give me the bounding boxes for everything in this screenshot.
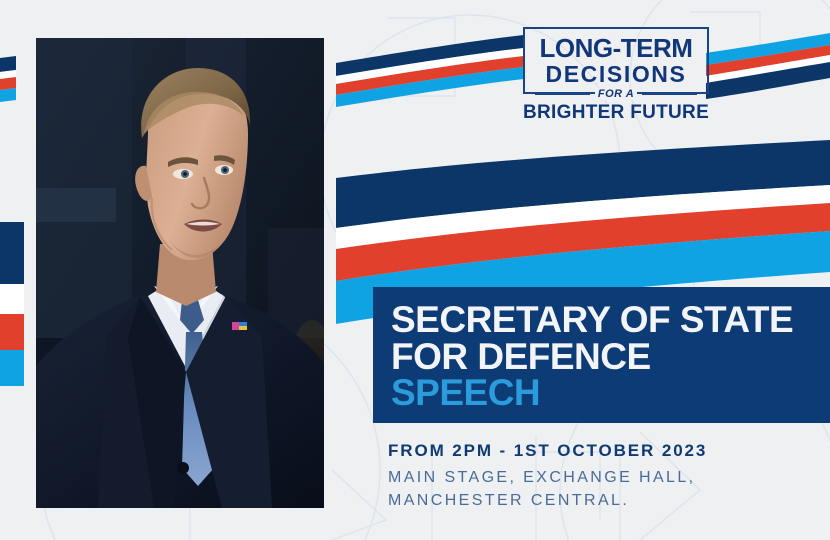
ribbon-top-left [336, 35, 524, 107]
logo-rule-right [642, 93, 697, 95]
poster-canvas: LONG-TERM DECISIONS FOR A BRIGHTER FUTUR… [0, 0, 830, 540]
headline-line-1: SECRETARY OF STATE [391, 302, 793, 339]
speaker-portrait [36, 38, 324, 508]
ribbon-left-sliver [0, 56, 16, 102]
event-venue-line-1: MAIN STAGE, EXCHANGE HALL, [388, 466, 818, 489]
logo-box: LONG-TERM DECISIONS FOR A [523, 27, 709, 94]
ribbon-top-right [706, 33, 830, 99]
headline-text: SECRETARY OF STATE FOR DEFENCE SPEECH [391, 302, 793, 412]
headline-line-3: SPEECH [391, 375, 793, 412]
logo-connector-for-a: FOR A [595, 88, 637, 100]
event-venue-line-2: MANCHESTER CENTRAL. [388, 489, 818, 512]
logo-line-brighter-future: BRIGHTER FUTURE [523, 103, 709, 122]
headline-panel: SECRETARY OF STATE FOR DEFENCE SPEECH [373, 287, 830, 423]
logo-line-long-term: LONG-TERM [533, 36, 699, 61]
event-time-date: FROM 2PM - 1ST OCTOBER 2023 [388, 440, 818, 463]
event-details: FROM 2PM - 1ST OCTOBER 2023 MAIN STAGE, … [388, 440, 818, 512]
campaign-logo: LONG-TERM DECISIONS FOR A BRIGHTER FUTUR… [523, 27, 709, 122]
ribbon-left-edge [0, 222, 24, 386]
headline-line-2: FOR DEFENCE [391, 339, 793, 376]
logo-line-decisions: DECISIONS [533, 62, 699, 86]
portrait-illustration [36, 38, 324, 508]
logo-connector-row: FOR A [525, 88, 707, 100]
logo-rule-left [535, 93, 590, 95]
event-venue: MAIN STAGE, EXCHANGE HALL, MANCHESTER CE… [388, 466, 818, 512]
